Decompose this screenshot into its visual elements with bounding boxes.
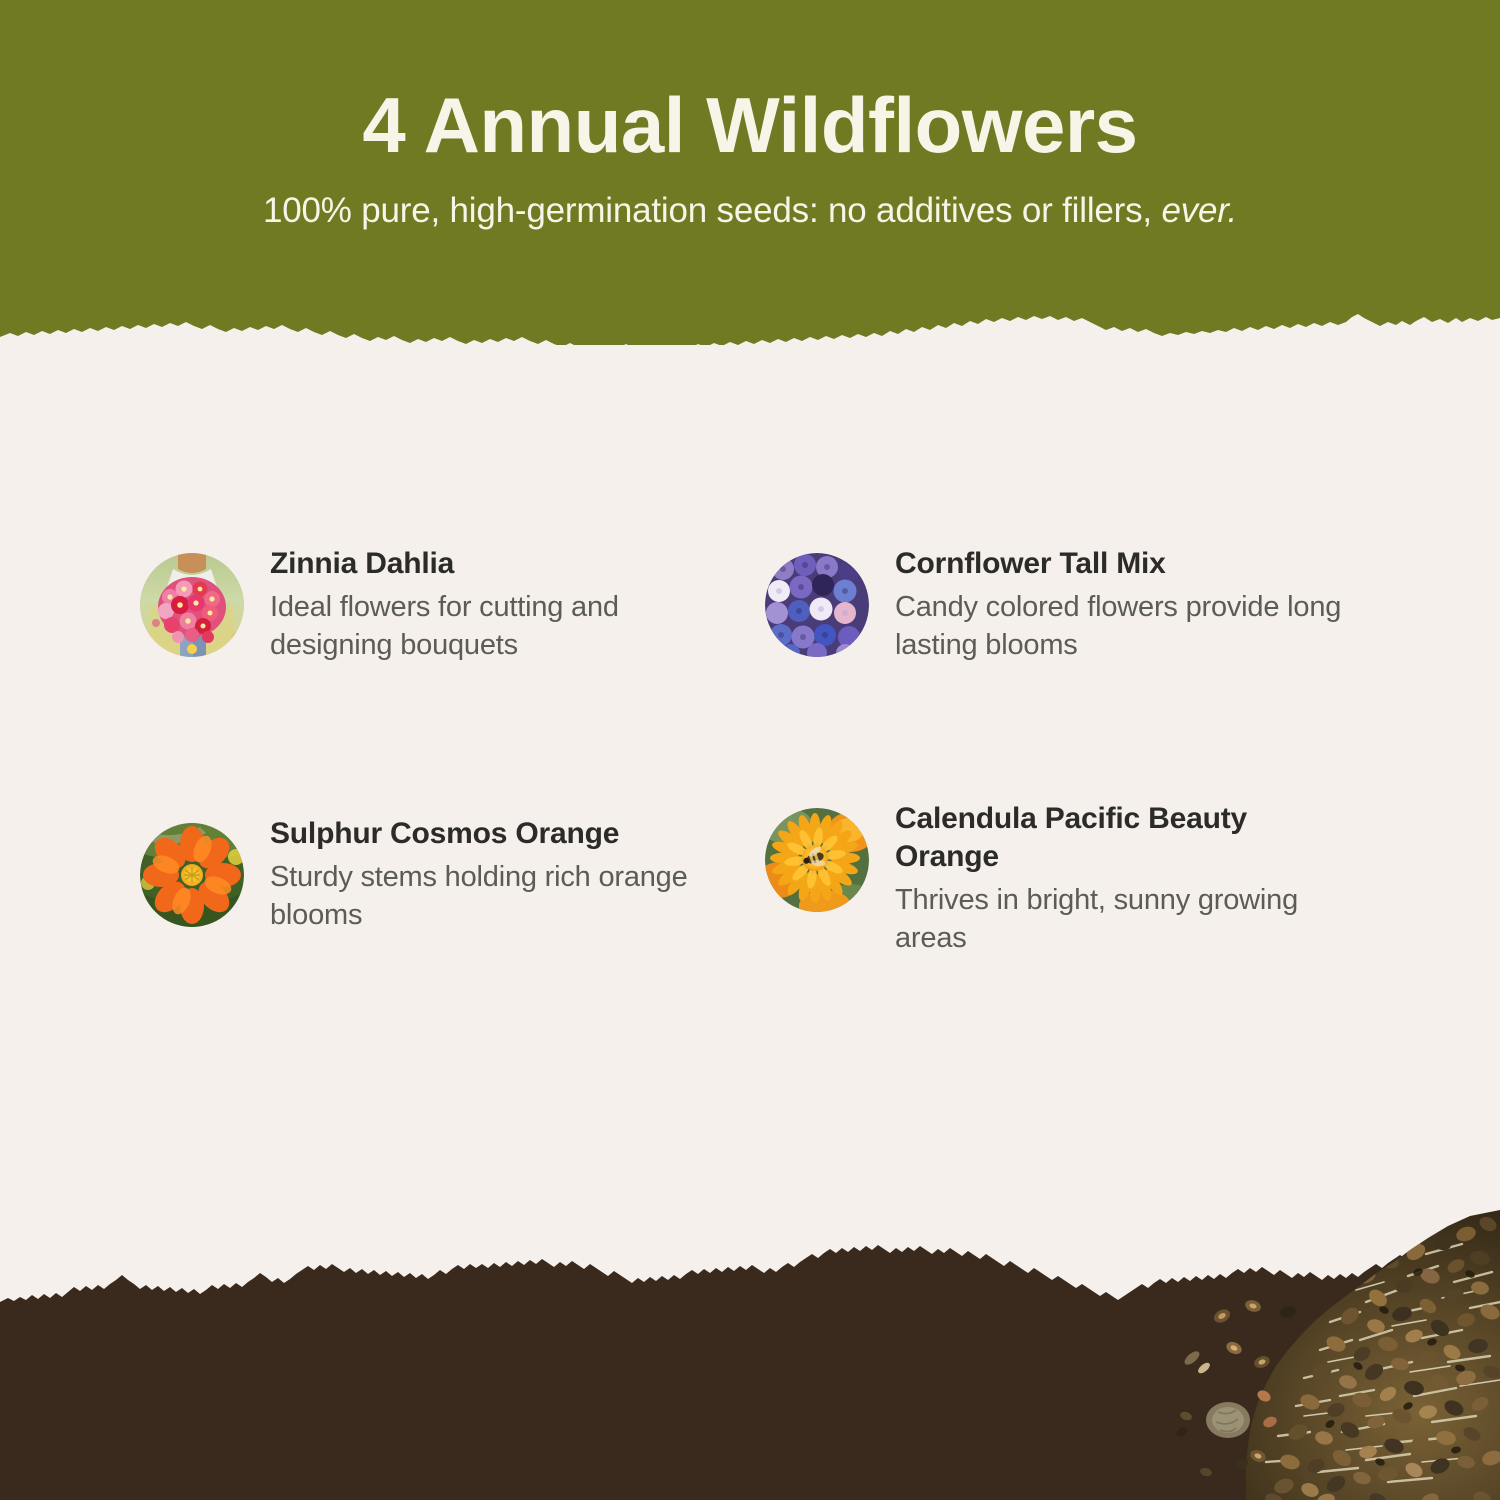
feature-description: Candy colored flowers provide long lasti… bbox=[895, 588, 1345, 665]
header-text-group: 4 Annual Wildflowers 100% pure, high-ger… bbox=[0, 0, 1500, 300]
sulphur-cosmos-orange-photo bbox=[140, 823, 244, 927]
feature-text: Sulphur Cosmos Orange Sturdy stems holdi… bbox=[270, 815, 725, 935]
page-subtitle: 100% pure, high-germination seeds: no ad… bbox=[263, 191, 1237, 231]
soil-edge bbox=[0, 1240, 1500, 1500]
feature-text: Cornflower Tall Mix Candy colored flower… bbox=[895, 545, 1345, 665]
subtitle-lead: 100% pure, high-germination seeds: no ad… bbox=[263, 191, 1162, 230]
feature-item-calendula-pacific-beauty-orange: Calendula Pacific Beauty Orange Thrives … bbox=[765, 800, 1365, 958]
feature-item-zinnia-dahlia: Zinnia Dahlia Ideal flowers for cutting … bbox=[140, 545, 740, 665]
feature-grid: Zinnia Dahlia Ideal flowers for cutting … bbox=[0, 545, 1500, 1015]
feature-text: Calendula Pacific Beauty Orange Thrives … bbox=[895, 800, 1345, 958]
calendula-pacific-beauty-photo bbox=[765, 808, 869, 912]
feature-description: Ideal flowers for cutting and designing … bbox=[270, 588, 725, 665]
feature-description: Sturdy stems holding rich orange blooms bbox=[270, 858, 725, 935]
subtitle-emphasis: ever. bbox=[1161, 191, 1237, 230]
header-band: 4 Annual Wildflowers 100% pure, high-ger… bbox=[0, 0, 1500, 345]
zinnia-dahlia-photo bbox=[140, 553, 244, 657]
page-title: 4 Annual Wildflowers bbox=[362, 86, 1137, 164]
feature-text: Zinnia Dahlia Ideal flowers for cutting … bbox=[270, 545, 725, 665]
cornflower-tall-mix-photo bbox=[765, 553, 869, 657]
product-infographic: 4 Annual Wildflowers 100% pure, high-ger… bbox=[0, 0, 1500, 1500]
feature-item-sulphur-cosmos-orange: Sulphur Cosmos Orange Sturdy stems holdi… bbox=[140, 815, 740, 935]
feature-item-cornflower-tall-mix: Cornflower Tall Mix Candy colored flower… bbox=[765, 545, 1365, 665]
feature-title: Cornflower Tall Mix bbox=[895, 545, 1295, 583]
feature-description: Thrives in bright, sunny growing areas bbox=[895, 881, 1345, 958]
feature-title: Sulphur Cosmos Orange bbox=[270, 815, 725, 853]
soil-band bbox=[0, 1240, 1500, 1500]
feature-title: Calendula Pacific Beauty Orange bbox=[895, 800, 1295, 876]
feature-title: Zinnia Dahlia bbox=[270, 545, 725, 583]
